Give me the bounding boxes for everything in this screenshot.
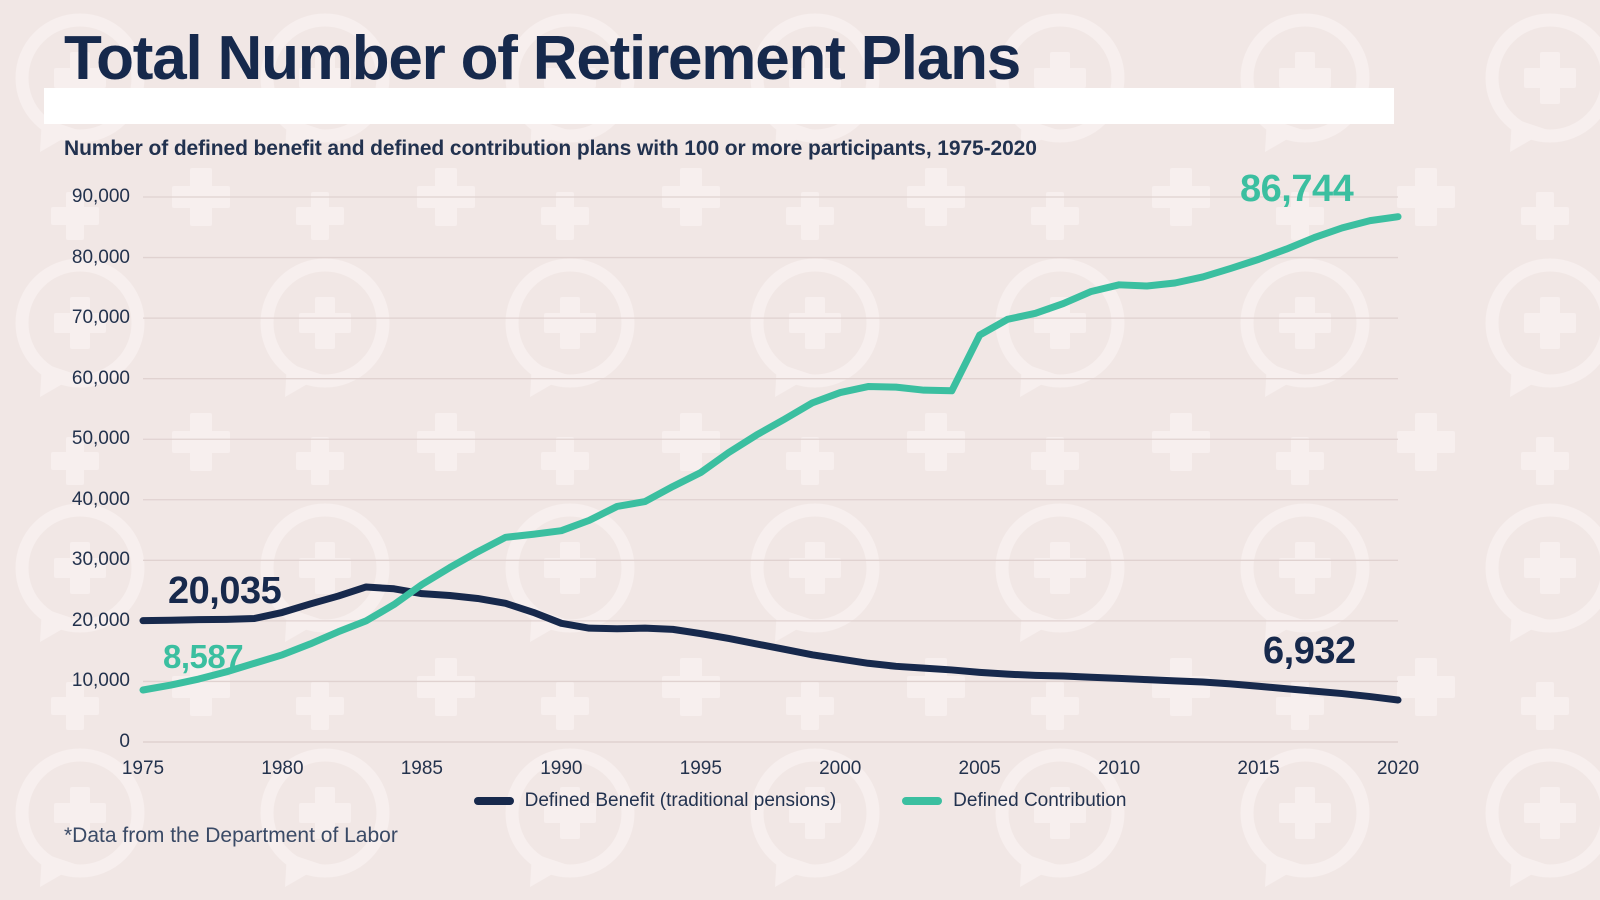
defined-benefit-start-label: 20,035: [168, 570, 281, 613]
x-axis-tick-label: 1990: [540, 758, 582, 780]
y-axis-tick-label: 80,000: [40, 247, 130, 269]
y-axis-tick-label: 60,000: [40, 368, 130, 390]
x-axis-tick-label: 1980: [261, 758, 303, 780]
x-axis-tick-label: 1985: [401, 758, 443, 780]
defined-contribution-end-label: 86,744: [1240, 168, 1353, 211]
plot-area: 010,00020,00030,00040,00050,00060,00070,…: [0, 0, 1600, 900]
x-axis-tick-label: 2020: [1377, 758, 1419, 780]
y-axis-tick-label: 40,000: [40, 489, 130, 511]
y-axis-tick-label: 20,000: [40, 610, 130, 632]
legend: Defined Benefit (traditional pensions) D…: [0, 790, 1600, 812]
legend-label-defined-benefit: Defined Benefit (traditional pensions): [525, 790, 837, 812]
legend-item-defined-contribution[interactable]: Defined Contribution: [902, 790, 1126, 812]
y-axis-tick-label: 90,000: [40, 186, 130, 208]
defined-benefit-end-label: 6,932: [1263, 630, 1356, 673]
x-axis-tick-label: 2000: [819, 758, 861, 780]
series-line-defined-benefit: [143, 587, 1398, 700]
x-axis-tick-label: 2005: [959, 758, 1001, 780]
x-axis-tick-label: 2015: [1237, 758, 1279, 780]
series-line-defined-contribution: [143, 217, 1398, 690]
line-swatch-navy-icon: [474, 797, 514, 805]
y-axis-tick-label: 50,000: [40, 428, 130, 450]
x-axis-tick-label: 2010: [1098, 758, 1140, 780]
legend-item-defined-benefit[interactable]: Defined Benefit (traditional pensions): [474, 790, 837, 812]
y-axis-tick-label: 10,000: [40, 670, 130, 692]
legend-label-defined-contribution: Defined Contribution: [953, 790, 1126, 812]
y-axis-tick-label: 30,000: [40, 549, 130, 571]
defined-contribution-start-label: 8,587: [163, 638, 243, 676]
y-axis-tick-label: 0: [40, 731, 130, 753]
plot-svg: [0, 0, 1600, 900]
x-axis-tick-label: 1995: [680, 758, 722, 780]
data-source-footnote: *Data from the Department of Labor: [64, 824, 398, 848]
y-axis-tick-label: 70,000: [40, 307, 130, 329]
x-axis-tick-label: 1975: [122, 758, 164, 780]
chart-canvas: Total Number of Retirement Plans Number …: [0, 0, 1600, 900]
line-swatch-teal-icon: [902, 797, 942, 805]
